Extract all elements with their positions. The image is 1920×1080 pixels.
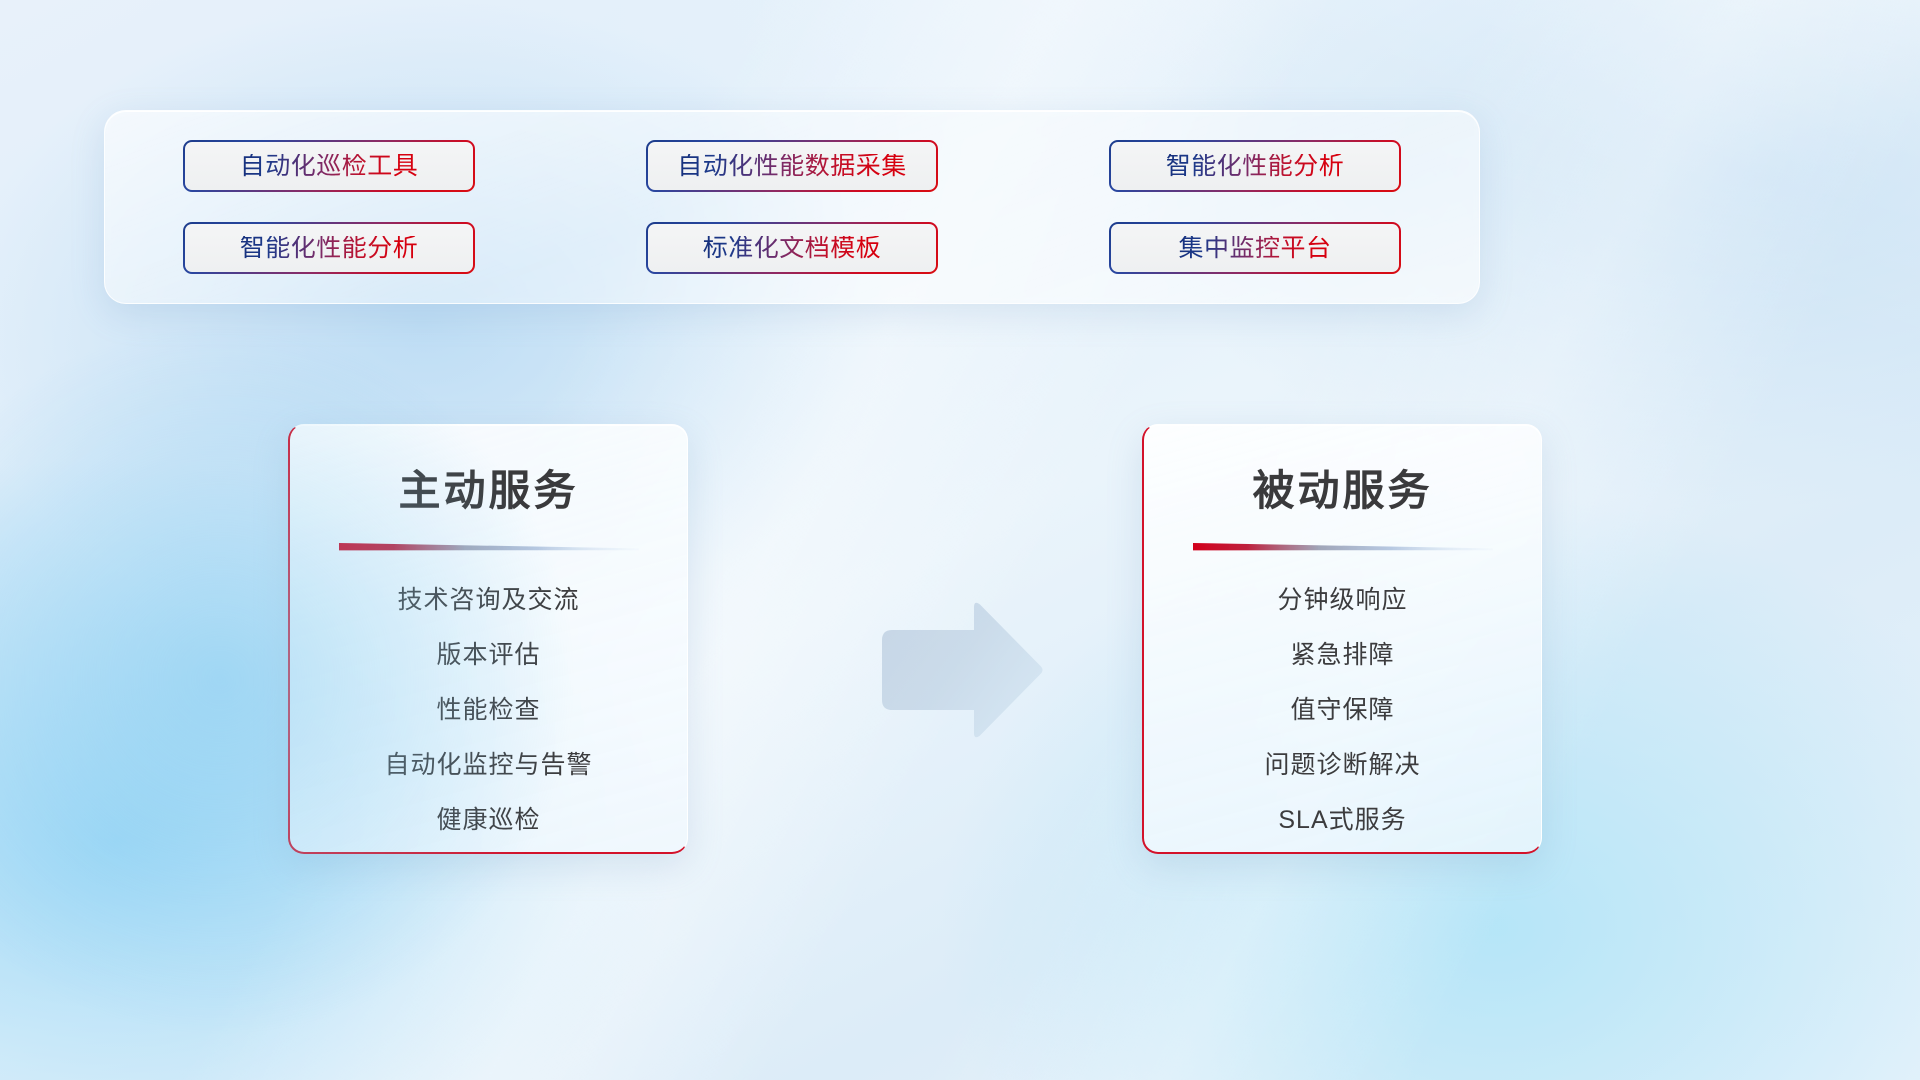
service-card-reactive: 被动服务 分钟级响应 紧急排障 值守保障 问题诊断解决 SLA式服务 — [1142, 424, 1542, 854]
capability-pill-label: 自动化巡检工具 — [240, 154, 419, 179]
capability-pill-label: 智能化性能分析 — [1166, 154, 1345, 179]
pill-inner: 自动化性能数据采集 — [648, 142, 936, 190]
list-item: 自动化监控与告警 — [384, 745, 592, 781]
list-item: 紧急排障 — [1290, 635, 1394, 671]
list-item: 问题诊断解决 — [1264, 745, 1420, 781]
capability-pill-label: 集中监控平台 — [1178, 236, 1331, 261]
pill-inner: 智能化性能分析 — [1111, 142, 1399, 190]
card-divider-wedge — [1193, 540, 1493, 554]
capability-pill-3[interactable]: 智能化性能分析 — [1109, 140, 1401, 192]
arrow-right-icon — [876, 602, 1046, 742]
capability-pill-4[interactable]: 智能化性能分析 — [183, 222, 475, 274]
capability-pill-2[interactable]: 自动化性能数据采集 — [646, 140, 938, 192]
card-item-list: 技术咨询及交流 版本评估 性能检查 自动化监控与告警 健康巡检 — [290, 580, 687, 836]
capability-pill-1[interactable]: 自动化巡检工具 — [183, 140, 475, 192]
list-item: 版本评估 — [436, 635, 540, 671]
pill-inner: 标准化文档模板 — [648, 224, 936, 272]
pill-inner: 自动化巡检工具 — [185, 142, 473, 190]
list-item: 性能检查 — [436, 690, 540, 726]
capability-pill-label: 智能化性能分析 — [240, 236, 419, 261]
capability-pill-label: 自动化性能数据采集 — [677, 154, 907, 179]
list-item: 技术咨询及交流 — [397, 580, 579, 616]
card-title: 被动服务 — [1144, 457, 1541, 518]
list-item: 分钟级响应 — [1277, 580, 1407, 616]
diagram-canvas: 自动化巡检工具 自动化性能数据采集 智能化性能分析 智能化性能分析 — [0, 0, 1920, 1080]
service-card-proactive: 主动服务 技术咨询及交流 版本评估 性能检查 自动化监控与告警 健康巡检 — [288, 424, 688, 854]
card-title: 主动服务 — [290, 457, 687, 518]
list-item: 健康巡检 — [436, 800, 540, 836]
card-item-list: 分钟级响应 紧急排障 值守保障 问题诊断解决 SLA式服务 — [1144, 580, 1541, 836]
capability-pill-label: 标准化文档模板 — [703, 236, 882, 261]
card-divider-wedge — [339, 540, 639, 554]
list-item: SLA式服务 — [1278, 800, 1406, 836]
pill-inner: 集中监控平台 — [1111, 224, 1399, 272]
capability-pill-grid: 自动化巡检工具 自动化性能数据采集 智能化性能分析 智能化性能分析 — [105, 111, 1479, 303]
list-item: 值守保障 — [1290, 690, 1394, 726]
pill-inner: 智能化性能分析 — [185, 224, 473, 272]
capability-pill-6[interactable]: 集中监控平台 — [1109, 222, 1401, 274]
capability-pill-5[interactable]: 标准化文档模板 — [646, 222, 938, 274]
capability-panel: 自动化巡检工具 自动化性能数据采集 智能化性能分析 智能化性能分析 — [104, 110, 1480, 304]
